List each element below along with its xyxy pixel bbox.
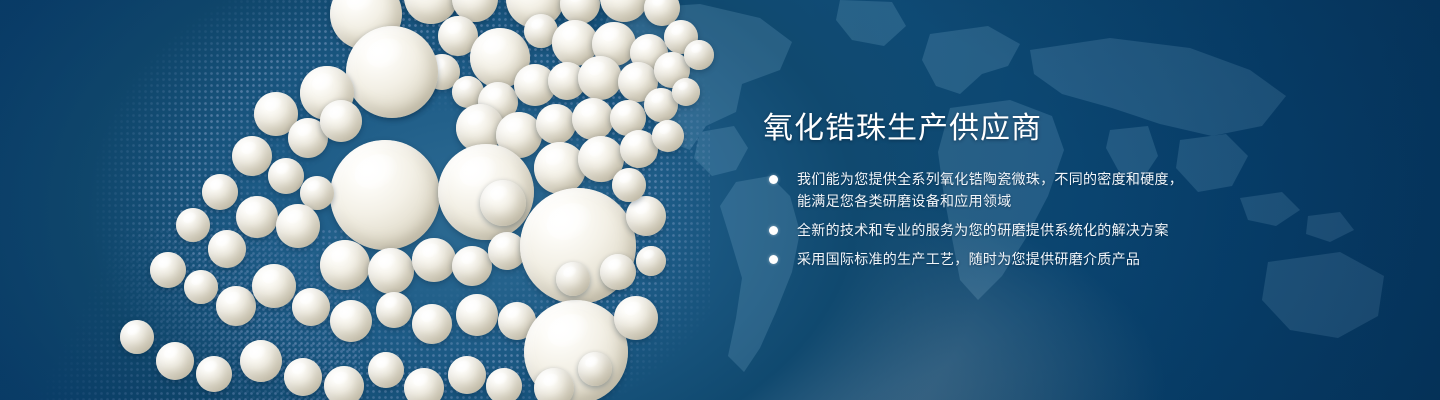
list-item-label: 采用国际标准的生产工艺，随时为您提供研磨介质产品 — [797, 251, 1140, 267]
list-item: 我们能为您提供全系列氧化锆陶瓷微珠，不同的密度和硬度， 能满足您各类研磨设备和应… — [769, 168, 1269, 212]
list-item-label: 我们能为您提供全系列氧化锆陶瓷微珠，不同的密度和硬度， — [797, 171, 1183, 187]
list-item-label-line2: 能满足您各类研磨设备和应用领域 — [797, 190, 1269, 212]
bullet-dot-icon — [769, 226, 778, 235]
list-item: 全新的技术和专业的服务为您的研磨提供系统化的解决方案 — [769, 219, 1269, 241]
list-item-label: 全新的技术和专业的服务为您的研磨提供系统化的解决方案 — [797, 222, 1169, 238]
list-item: 采用国际标准的生产工艺，随时为您提供研磨介质产品 — [769, 248, 1269, 270]
hero-banner: 氧化锆珠生产供应商 我们能为您提供全系列氧化锆陶瓷微珠，不同的密度和硬度， 能满… — [0, 0, 1440, 400]
page-title: 氧化锆珠生产供应商 — [763, 110, 1042, 148]
bullet-dot-icon — [769, 255, 778, 264]
banner-content: 氧化锆珠生产供应商 我们能为您提供全系列氧化锆陶瓷微珠，不同的密度和硬度， 能满… — [763, 0, 1283, 400]
bullet-dot-icon — [769, 175, 778, 184]
feature-list: 我们能为您提供全系列氧化锆陶瓷微珠，不同的密度和硬度， 能满足您各类研磨设备和应… — [769, 168, 1269, 277]
